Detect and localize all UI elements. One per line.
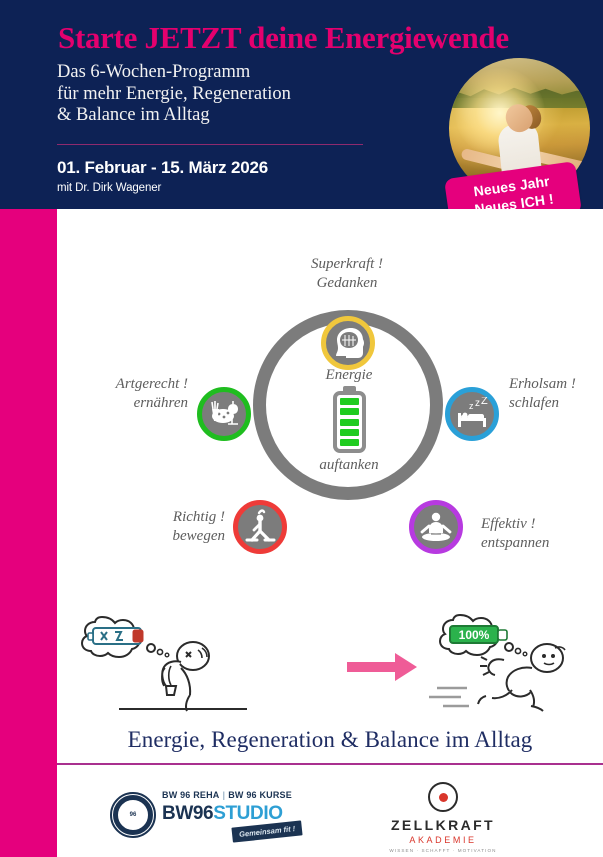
zellkraft-dot-icon: [439, 793, 448, 802]
battery-icon: [333, 391, 366, 453]
bw96-kurse-label: BW 96 KURSE: [228, 790, 292, 800]
bw96-reha-label: BW 96 REHA: [162, 790, 220, 800]
header-subtitle: Das 6-Wochen-Programm für mehr Energie, …: [57, 62, 407, 127]
cycle-node-entspannen[interactable]: [409, 500, 463, 554]
footer-divider: [57, 763, 603, 765]
yoga-pose-icon: [243, 509, 277, 545]
zellkraft-tagline: WISSEN · SCHAFFT · MOTIVATION: [383, 848, 503, 853]
svg-text:Z: Z: [481, 397, 488, 407]
cycle-label-bewegen: Richtig ! bewegen: [85, 508, 225, 546]
bw96-separator: |: [220, 790, 229, 800]
date-range: 01. Februar - 15. März 2026: [57, 158, 268, 178]
cycle-node-ernaehren[interactable]: [197, 387, 251, 441]
after-thought-bubble: 100%: [440, 615, 527, 656]
battery-cell: [340, 419, 359, 426]
zellkraft-name: ZELLKRAFT: [383, 817, 503, 833]
battery-cell: [340, 398, 359, 405]
bw96-studio-prefix: BW96: [162, 803, 213, 824]
meditation-icon: [418, 510, 454, 544]
bw96-top-line: BW 96 REHA|BW 96 KURSE: [162, 790, 312, 800]
battery-cell: [340, 408, 359, 415]
cycle-node-schlafen[interactable]: z z Z: [445, 387, 499, 441]
poster: Starte JETZT deine Energiewende Das 6-Wo…: [0, 0, 603, 857]
presenter-name: mit Dr. Dirk Wagener: [57, 182, 161, 194]
page-title: Starte JETZT deine Energiewende: [58, 20, 588, 56]
bed-sleep-icon: z z Z: [453, 397, 491, 431]
brain-head-icon: [329, 326, 367, 360]
cycle-label-schlafen: Erholsam ! schlafen: [509, 375, 603, 413]
bw96-studio-suffix: STUDIO: [213, 803, 282, 824]
zellkraft-circle-icon: [428, 782, 458, 812]
footer-headline: Energie, Regeneration & Balance im Allta…: [57, 727, 603, 753]
cycle-node-gedanken[interactable]: [321, 316, 375, 370]
battery-cell: [340, 439, 359, 446]
tired-person-figure: [119, 642, 247, 711]
cycle-label-gedanken: Superkraft ! Gedanken: [267, 255, 427, 293]
cycle-label-ernaehren: Artgerecht ! ernähren: [88, 375, 188, 413]
logo-zellkraft-akademie[interactable]: ZELLKRAFT AKADEMIE WISSEN · SCHAFFT · MO…: [383, 782, 503, 848]
battery-percent-label: 100%: [459, 628, 490, 642]
zellkraft-sub: AKADEMIE: [383, 835, 503, 845]
vegetables-icon: [206, 398, 242, 430]
svg-text:z: z: [469, 401, 474, 411]
before-after-illustration: 100%: [57, 590, 603, 720]
before-thought-bubble: [82, 617, 169, 657]
header-divider: [57, 144, 363, 145]
left-accent-bar: [0, 209, 57, 857]
cycle-label-entspannen: Effektiv ! entspannen: [481, 515, 603, 553]
energy-cycle-diagram: Energie auftanken Superkraft ! Gedanken: [57, 215, 603, 595]
before-after-drawing: 100%: [57, 590, 603, 720]
running-person-figure: [429, 644, 565, 711]
logo-bw96-studio[interactable]: 96 BW 96 REHA|BW 96 KURSE BW96STUDIO Gem…: [110, 784, 310, 846]
bw96-emblem-icon: 96: [110, 792, 156, 838]
bw96-emblem-inner: 96: [113, 795, 153, 835]
center-label-bottom: auftanken: [279, 457, 419, 474]
cycle-node-bewegen[interactable]: [233, 500, 287, 554]
battery-cell: [340, 429, 359, 436]
header-banner: Starte JETZT deine Energiewende Das 6-Wo…: [0, 0, 603, 209]
transition-arrow: [347, 653, 417, 681]
svg-text:z: z: [475, 398, 480, 409]
